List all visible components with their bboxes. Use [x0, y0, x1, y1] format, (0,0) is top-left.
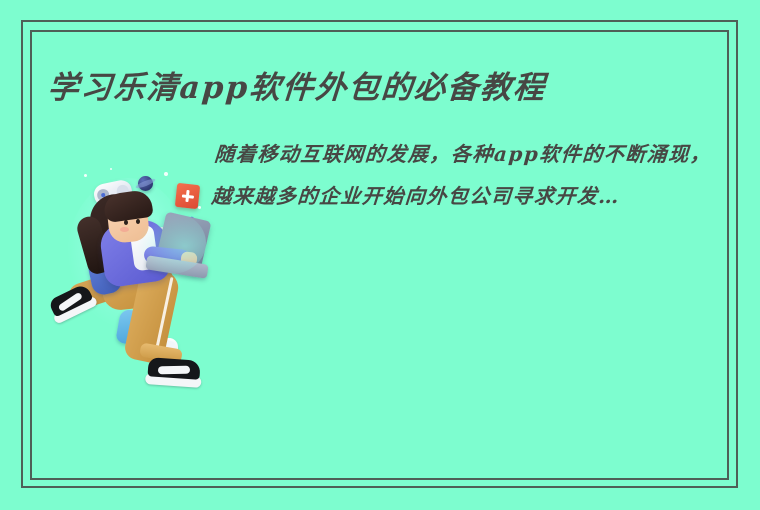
- page-title: 学习乐清app软件外包的必备教程: [46, 62, 719, 107]
- hero-illustration: [40, 160, 220, 392]
- figure-student: [40, 160, 220, 392]
- figure-front-shoe: [145, 352, 203, 388]
- figure-eye-left: [124, 220, 128, 225]
- figure-eye-right: [136, 219, 140, 224]
- poster-canvas: 学习乐清app软件外包的必备教程 随着移动互联网的发展，各种app软件的不断涌现…: [0, 0, 760, 510]
- figure-blush: [120, 227, 129, 232]
- article-summary: 随着移动互联网的发展，各种app软件的不断涌现，越来越多的企业开始向外包公司寻求…: [210, 133, 734, 217]
